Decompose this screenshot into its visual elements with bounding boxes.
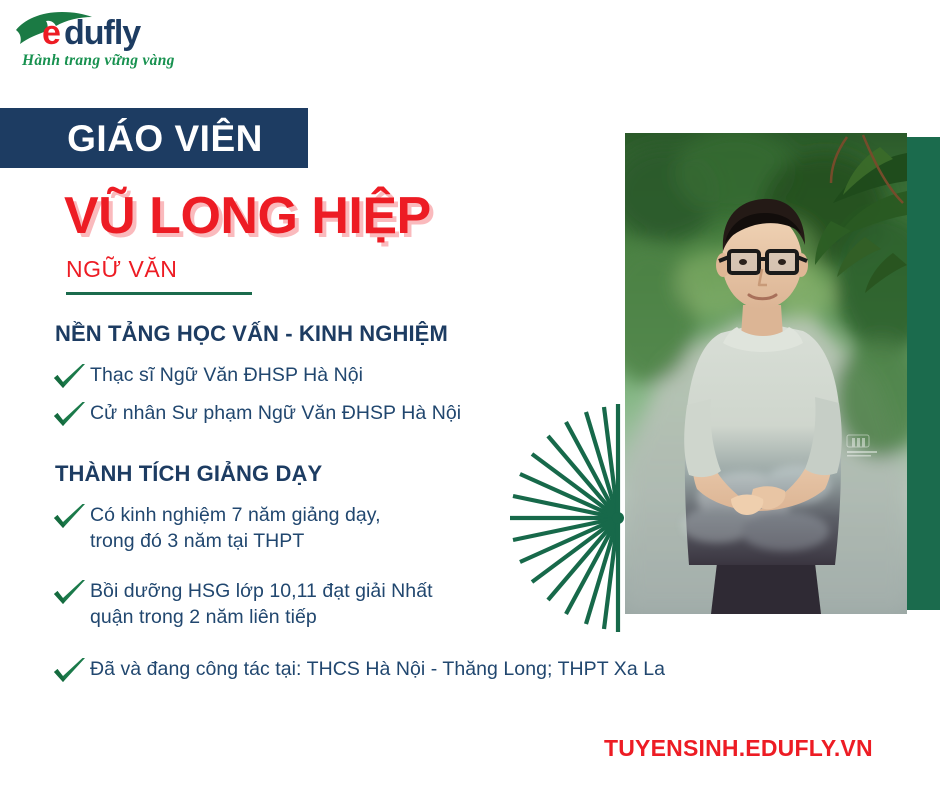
logo-tagline: Hành trang vững vàng (22, 52, 175, 70)
list-item-label: Bồi dưỡng HSG lớp 10,11 đạt giải Nhất qu… (90, 578, 433, 631)
radial-burst-icon (500, 404, 630, 634)
giao-vien-banner: GIÁO VIÊN (0, 108, 308, 168)
list-item: Có kinh nghiệm 7 năm giảng dạy, trong đó… (52, 502, 381, 555)
green-check-icon (52, 657, 86, 685)
green-accent-bar (907, 137, 940, 610)
subject-underline-rule (66, 292, 252, 295)
edufly-logo[interactable]: e dufly Hành trang vững vàng (14, 8, 214, 72)
teacher-subject: NGỮ VĂN (66, 258, 177, 281)
footer-website-url[interactable]: TUYENSINH.EDUFLY.VN (604, 735, 873, 762)
edufly-logo-svg: e dufly (14, 8, 184, 54)
green-check-icon (52, 363, 86, 391)
section-heading-achievements: THÀNH TÍCH GIẢNG DẠY (55, 462, 322, 486)
green-check-icon (52, 503, 86, 531)
green-check-icon (52, 401, 86, 429)
list-item: Bồi dưỡng HSG lớp 10,11 đạt giải Nhất qu… (52, 578, 433, 631)
teacher-portrait (625, 133, 907, 614)
list-item: Cử nhân Sư phạm Ngữ Văn ĐHSP Hà Nội (52, 400, 461, 429)
list-item-label: Đã và đang công tác tại: THCS Hà Nội - T… (90, 656, 665, 682)
list-item-label: Thạc sĩ Ngữ Văn ĐHSP Hà Nội (90, 362, 363, 388)
teacher-profile-poster: e dufly Hành trang vững vàng GIÁO VIÊN V… (0, 0, 940, 788)
green-check-icon (52, 579, 86, 607)
list-item-label: Có kinh nghiệm 7 năm giảng dạy, trong đó… (90, 502, 381, 555)
logo-letters-dufly: dufly (64, 14, 141, 52)
edufly-logo-mark: e dufly (14, 8, 184, 54)
list-item: Đã và đang công tác tại: THCS Hà Nội - T… (52, 656, 665, 685)
list-item-label: Cử nhân Sư phạm Ngữ Văn ĐHSP Hà Nội (90, 400, 461, 426)
teacher-name: VŨ LONG HIỆP (64, 190, 431, 242)
banner-label: GIÁO VIÊN (45, 120, 263, 157)
list-item: Thạc sĩ Ngữ Văn ĐHSP Hà Nội (52, 362, 363, 391)
section-heading-education: NỀN TẢNG HỌC VẤN - KINH NGHIỆM (55, 322, 448, 346)
logo-letter-e: e (42, 14, 61, 52)
